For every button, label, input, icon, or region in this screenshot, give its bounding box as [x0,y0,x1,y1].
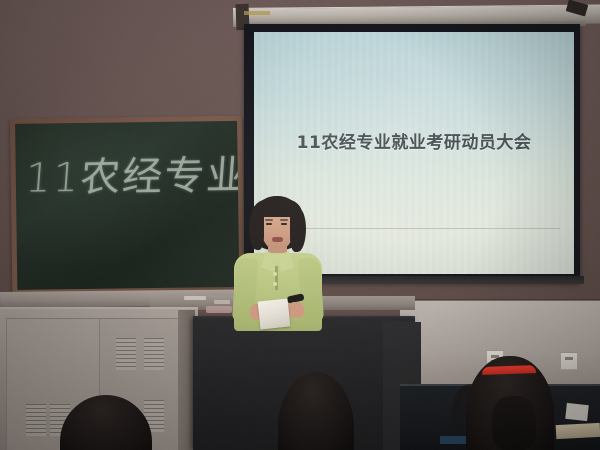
presenter [222,196,332,331]
desk-book [556,423,600,439]
student-ponytail [492,396,536,450]
cabinet-vent-icon [26,404,46,436]
presenter-hair-left [249,208,264,250]
chalk-stick [184,296,206,300]
desk-paper [565,403,589,421]
presenter-eyebrow-left [265,219,273,221]
presenter-hand-right [288,302,304,318]
presenter-hair-right [290,208,306,252]
cabinet-vent-icon [116,338,136,370]
presenter-eyebrow-right [280,219,288,221]
blackboard-surface: 11农经专业 [15,121,239,290]
presenter-shirt-placket [275,266,278,290]
light-switch-icon [560,352,578,370]
blackboard: 11农经专业 [10,116,244,295]
housing-label-left [244,11,270,15]
presenter-held-papers [258,299,291,330]
blackboard-chalk-text: 11农经专业 [24,143,240,204]
classroom-photo: 11农经专业 11农经专业就业考研动员大会 [0,0,600,450]
presenter-eye-left [266,223,272,225]
presenter-shirt-button [273,272,277,276]
wall-seam [400,299,600,301]
cabinet-vent-icon [144,338,164,370]
slide-title: 11农经专业就业考研动员大会 [254,128,574,153]
presenter-shirt-button [273,282,277,286]
presenter-eye-right [281,223,287,225]
presenter-mouth [272,237,283,242]
switch-slot [565,357,573,360]
